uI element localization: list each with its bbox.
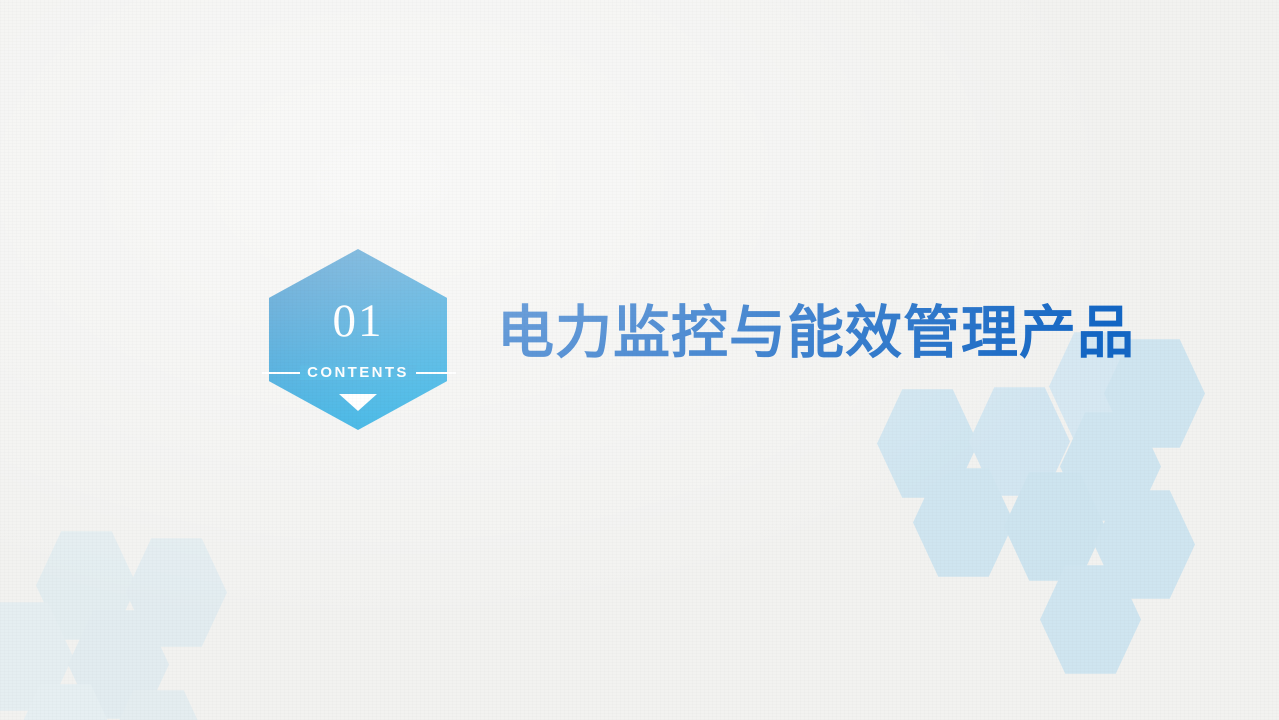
badge-label-text: CONTENTS (300, 365, 416, 380)
slide-canvas: 01 CONTENTS 电力监控与能效管理产品 (0, 0, 1279, 720)
contents-badge[interactable]: 01 CONTENTS (269, 249, 447, 430)
page-title: 电力监控与能效管理产品 (497, 287, 1135, 369)
badge-number: 01 (269, 298, 447, 345)
triangle-down-icon (339, 394, 377, 411)
badge-label: CONTENTS (269, 365, 447, 380)
